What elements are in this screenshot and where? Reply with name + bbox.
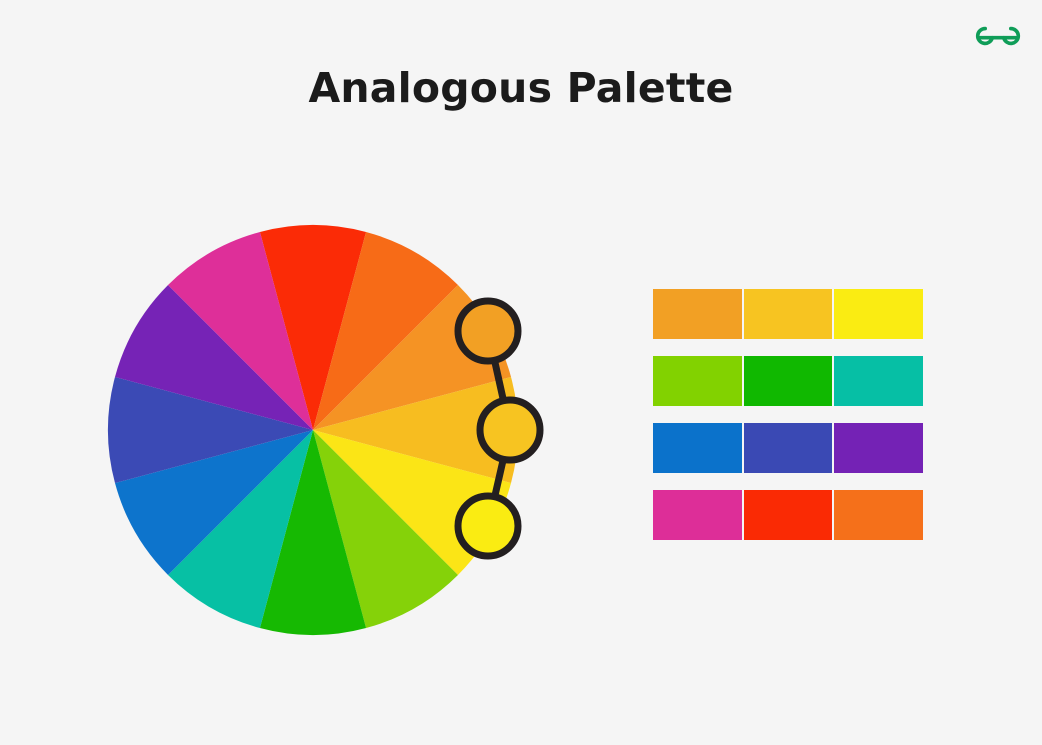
swatch-row xyxy=(653,490,923,540)
palette-swatch-grid xyxy=(653,289,923,540)
swatch-golden-yellow[interactable] xyxy=(744,289,833,339)
swatch-blue[interactable] xyxy=(653,423,742,473)
swatch-purple[interactable] xyxy=(834,423,923,473)
color-wheel xyxy=(104,218,544,648)
page-title: Analogous Palette xyxy=(0,64,1042,113)
analogous-marker-1[interactable] xyxy=(458,301,518,361)
palette-illustration-canvas: Analogous Palette xyxy=(0,0,1042,745)
swatch-row xyxy=(653,289,923,339)
gfg-logo-icon xyxy=(972,18,1024,52)
swatch-yellow[interactable] xyxy=(834,289,923,339)
swatch-green[interactable] xyxy=(744,356,833,406)
swatch-orange[interactable] xyxy=(653,289,742,339)
analogous-marker-2[interactable] xyxy=(480,400,540,460)
color-wheel-svg xyxy=(104,218,544,648)
swatch-row xyxy=(653,423,923,473)
swatch-row xyxy=(653,356,923,406)
analogous-marker-3[interactable] xyxy=(458,496,518,556)
swatch-lime-green[interactable] xyxy=(653,356,742,406)
swatch-orange-dark[interactable] xyxy=(834,490,923,540)
swatch-magenta[interactable] xyxy=(653,490,742,540)
wheel-segments xyxy=(108,225,518,635)
swatch-teal[interactable] xyxy=(834,356,923,406)
geeksforgeeks-logo xyxy=(972,18,1024,52)
swatch-indigo[interactable] xyxy=(744,423,833,473)
swatch-red[interactable] xyxy=(744,490,833,540)
